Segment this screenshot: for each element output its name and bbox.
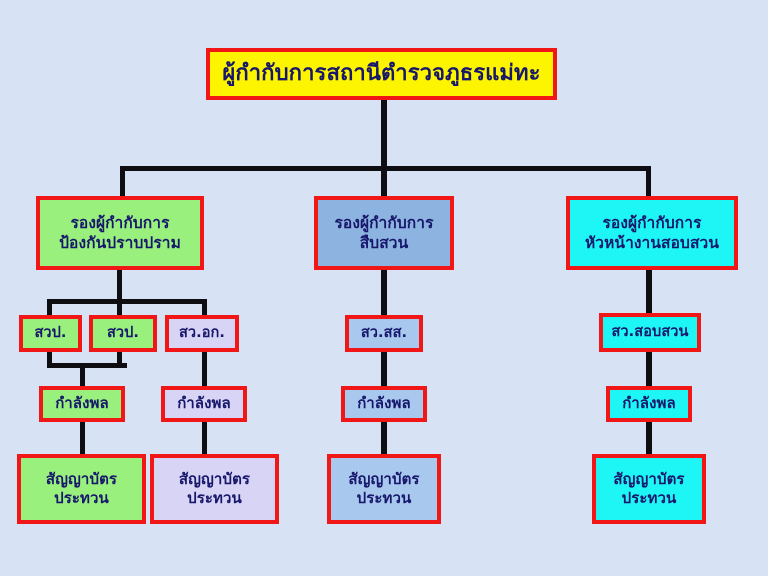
node-sawo-ok-label: สว.อก. [179, 324, 225, 343]
node-rank-2[interactable]: สัญญาบัตร ประทวน [150, 454, 279, 524]
node-deputy-prevention-line1: รองผู้กำกับการ [70, 213, 169, 233]
connector-prevention-stem [117, 270, 122, 302]
node-deputy-investigation-line2: สืบสวน [360, 233, 409, 253]
connector-sawopo-merge-bar [47, 363, 127, 368]
node-rank-4-line1: สัญญาบัตร [613, 470, 684, 490]
connector-sawo-sos-to-manpower-3 [381, 351, 387, 388]
node-deputy-prevention-line2: ป้องกันปราบปราม [59, 233, 181, 253]
connector-inquiry-to-sawo-sopsuan [646, 270, 652, 316]
node-rank-4-line2: ประทวน [622, 489, 677, 509]
node-sawo-sos-label: สว.สส. [361, 324, 407, 343]
node-commander-root[interactable]: ผู้กำกับการสถานีตำรวจภูธรแม่ทะ [206, 48, 557, 100]
node-sawo-sos[interactable]: สว.สส. [345, 315, 423, 352]
connector-drop-deputy-prevention [120, 166, 125, 199]
node-commander-root-label: ผู้กำกับการสถานีตำรวจภูธรแม่ทะ [222, 60, 540, 89]
node-manpower-4-label: กำลังพล [622, 394, 676, 414]
node-rank-3-line2: ประทวน [357, 489, 412, 509]
connector-drop-sawopo-1 [47, 299, 52, 316]
node-manpower-3[interactable]: กำลังพล [341, 386, 427, 422]
node-deputy-inquiry-line1: รองผู้กำกับการ [602, 213, 701, 233]
node-manpower-1[interactable]: กำลังพล [39, 386, 125, 422]
node-rank-3[interactable]: สัญญาบัตร ประทวน [327, 454, 441, 524]
node-manpower-1-label: กำลังพล [55, 394, 109, 414]
node-rank-1[interactable]: สัญญาบัตร ประทวน [17, 454, 146, 524]
connector-sawo-sopsuan-to-manpower-4 [646, 351, 652, 388]
node-deputy-inquiry-line2: หัวหน้างานสอบสวน [585, 233, 719, 253]
node-rank-4[interactable]: สัญญาบัตร ประทวน [592, 454, 706, 524]
connector-merge-to-manpower-1 [80, 363, 85, 388]
node-sawo-ok[interactable]: สว.อก. [165, 315, 239, 352]
node-rank-1-line1: สัญญาบัตร [46, 470, 117, 490]
node-deputy-inquiry[interactable]: รองผู้กำกับการ หัวหน้างานสอบสวน [566, 196, 738, 270]
connector-prevention-bar [47, 299, 207, 304]
org-chart: ผู้กำกับการสถานีตำรวจภูธรแม่ทะ รองผู้กำก… [0, 0, 768, 576]
connector-sawo-ok-to-manpower-2 [202, 351, 207, 388]
connector-manpower-4-to-rank-4 [646, 420, 652, 456]
node-rank-2-line1: สัญญาบัตร [179, 470, 250, 490]
node-deputy-investigation-line1: รองผู้กำกับการ [334, 213, 433, 233]
connector-drop-deputy-investigation [381, 166, 387, 199]
connector-manpower-3-to-rank-3 [381, 420, 387, 456]
connector-investigation-to-sawo-sos [381, 270, 387, 316]
connector-drop-sawopo-2 [117, 299, 122, 316]
node-sawo-sopsuan[interactable]: สว.สอบสวน [599, 313, 701, 352]
node-manpower-2[interactable]: กำลังพล [161, 386, 247, 422]
node-rank-2-line2: ประทวน [187, 489, 242, 509]
connector-drop-deputy-inquiry [646, 166, 651, 199]
connector-root-stem [381, 100, 387, 170]
connector-drop-sawo-ok [202, 299, 207, 316]
node-sawo-sopsuan-label: สว.สอบสวน [611, 323, 688, 342]
connector-manpower-2-to-rank-2 [202, 420, 207, 456]
node-manpower-4[interactable]: กำลังพล [606, 386, 692, 422]
node-deputy-investigation[interactable]: รองผู้กำกับการ สืบสวน [314, 196, 454, 270]
node-sawopo-2[interactable]: สวป. [89, 315, 157, 352]
node-manpower-2-label: กำลังพล [177, 394, 231, 414]
node-sawopo-1-label: สวป. [34, 324, 66, 343]
node-sawopo-1[interactable]: สวป. [19, 315, 82, 352]
node-sawopo-2-label: สวป. [107, 324, 139, 343]
node-rank-3-line1: สัญญาบัตร [348, 470, 419, 490]
connector-manpower-1-to-rank-1 [80, 420, 85, 456]
node-rank-1-line2: ประทวน [54, 489, 109, 509]
node-manpower-3-label: กำลังพล [357, 394, 411, 414]
node-deputy-prevention[interactable]: รองผู้กำกับการ ป้องกันปราบปราม [36, 196, 204, 270]
